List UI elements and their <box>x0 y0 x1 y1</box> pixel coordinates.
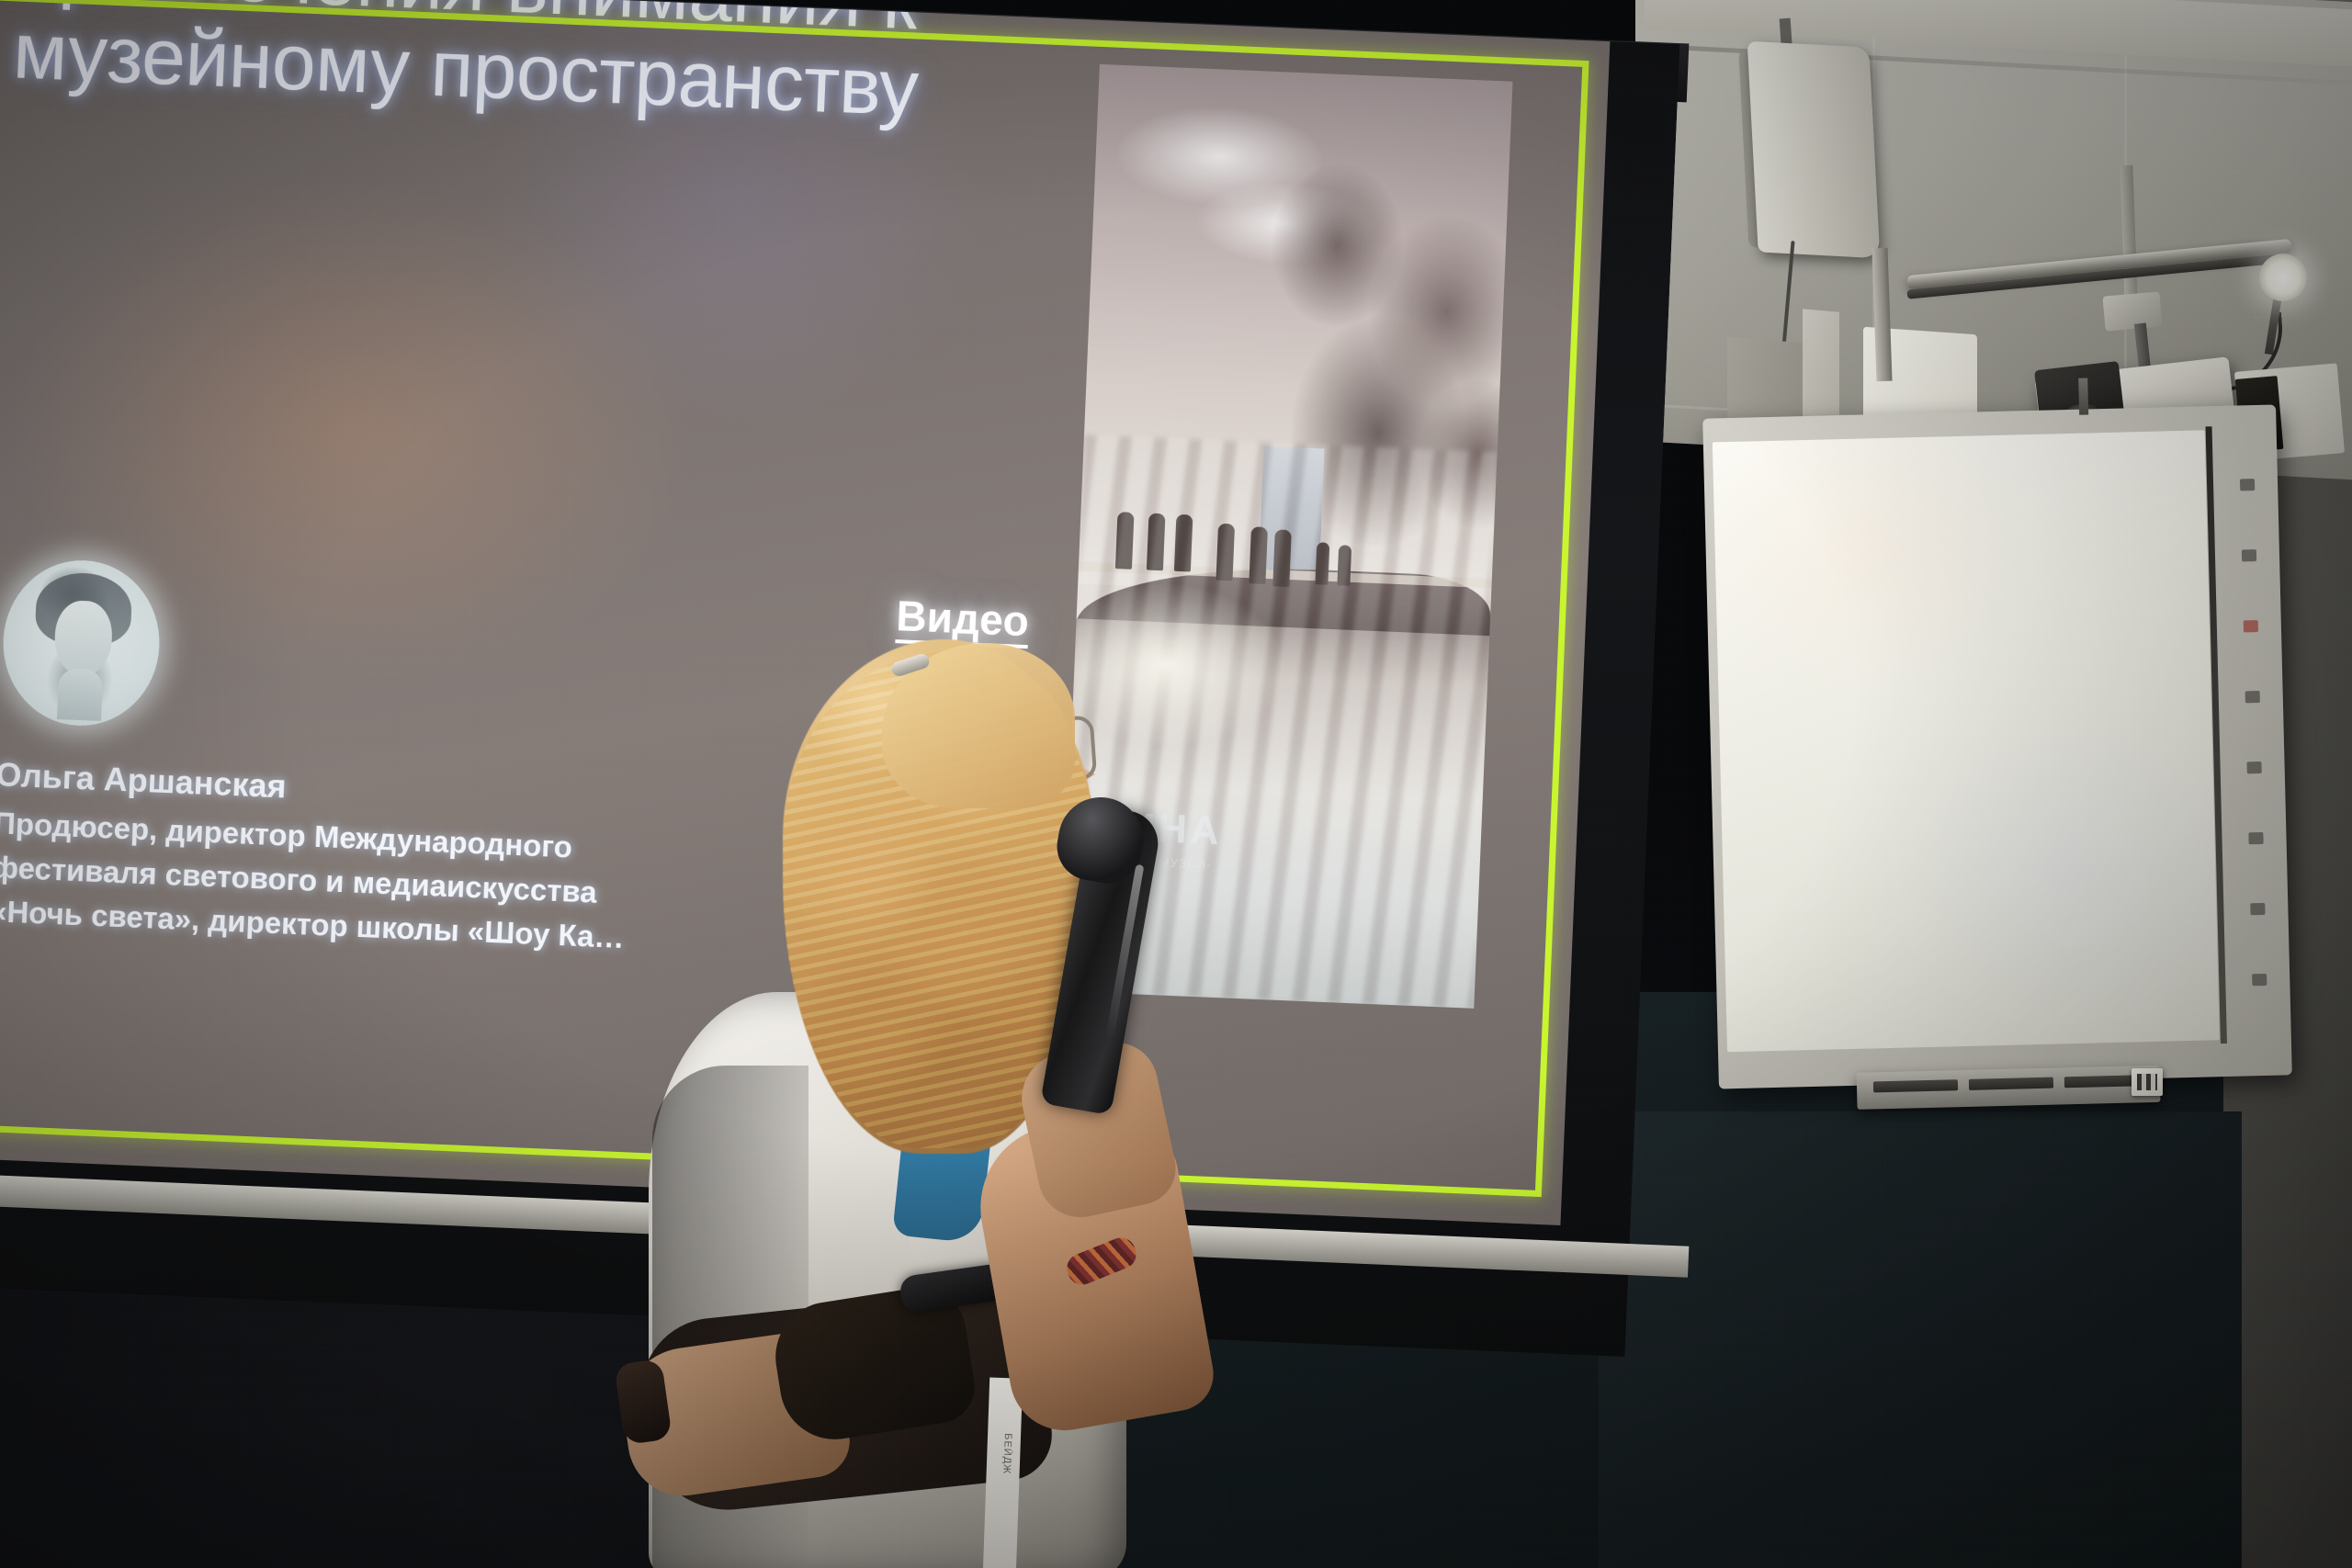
whiteboard-pen-tray[interactable] <box>1857 1066 2161 1110</box>
wall-socket[interactable] <box>2131 1068 2163 1096</box>
whiteboard-surface[interactable] <box>1713 430 2220 1052</box>
whiteboard-button[interactable] <box>2242 549 2256 561</box>
slide-title: как инструмент актуализации культурного … <box>11 0 1109 141</box>
photo-scene: как инструмент актуализации культурного … <box>0 0 2352 1568</box>
whiteboard-button[interactable] <box>2240 479 2255 491</box>
ceiling-spotlight <box>2259 254 2307 301</box>
whiteboard-button[interactable] <box>2245 691 2260 703</box>
presenter: БЕЙДЖ <box>514 478 1341 1568</box>
projector-joint <box>2102 291 2162 331</box>
whiteboard-ceiling-mount <box>2078 378 2088 414</box>
avatar <box>0 558 163 729</box>
whiteboard-button[interactable] <box>2252 974 2267 986</box>
chalkboard-section <box>1599 1111 2242 1568</box>
pen-slot[interactable] <box>1873 1079 1958 1092</box>
whiteboard-button-power[interactable] <box>2244 620 2258 632</box>
wall-loudspeaker <box>1747 41 1881 259</box>
whiteboard-button[interactable] <box>2246 761 2261 773</box>
avatar-face <box>53 600 113 678</box>
whiteboard-button[interactable] <box>2248 832 2263 844</box>
interactive-whiteboard[interactable] <box>1702 404 2292 1089</box>
whiteboard-button[interactable] <box>2250 903 2265 915</box>
avatar-neck <box>57 668 103 721</box>
pen-slot[interactable] <box>1969 1077 2053 1090</box>
